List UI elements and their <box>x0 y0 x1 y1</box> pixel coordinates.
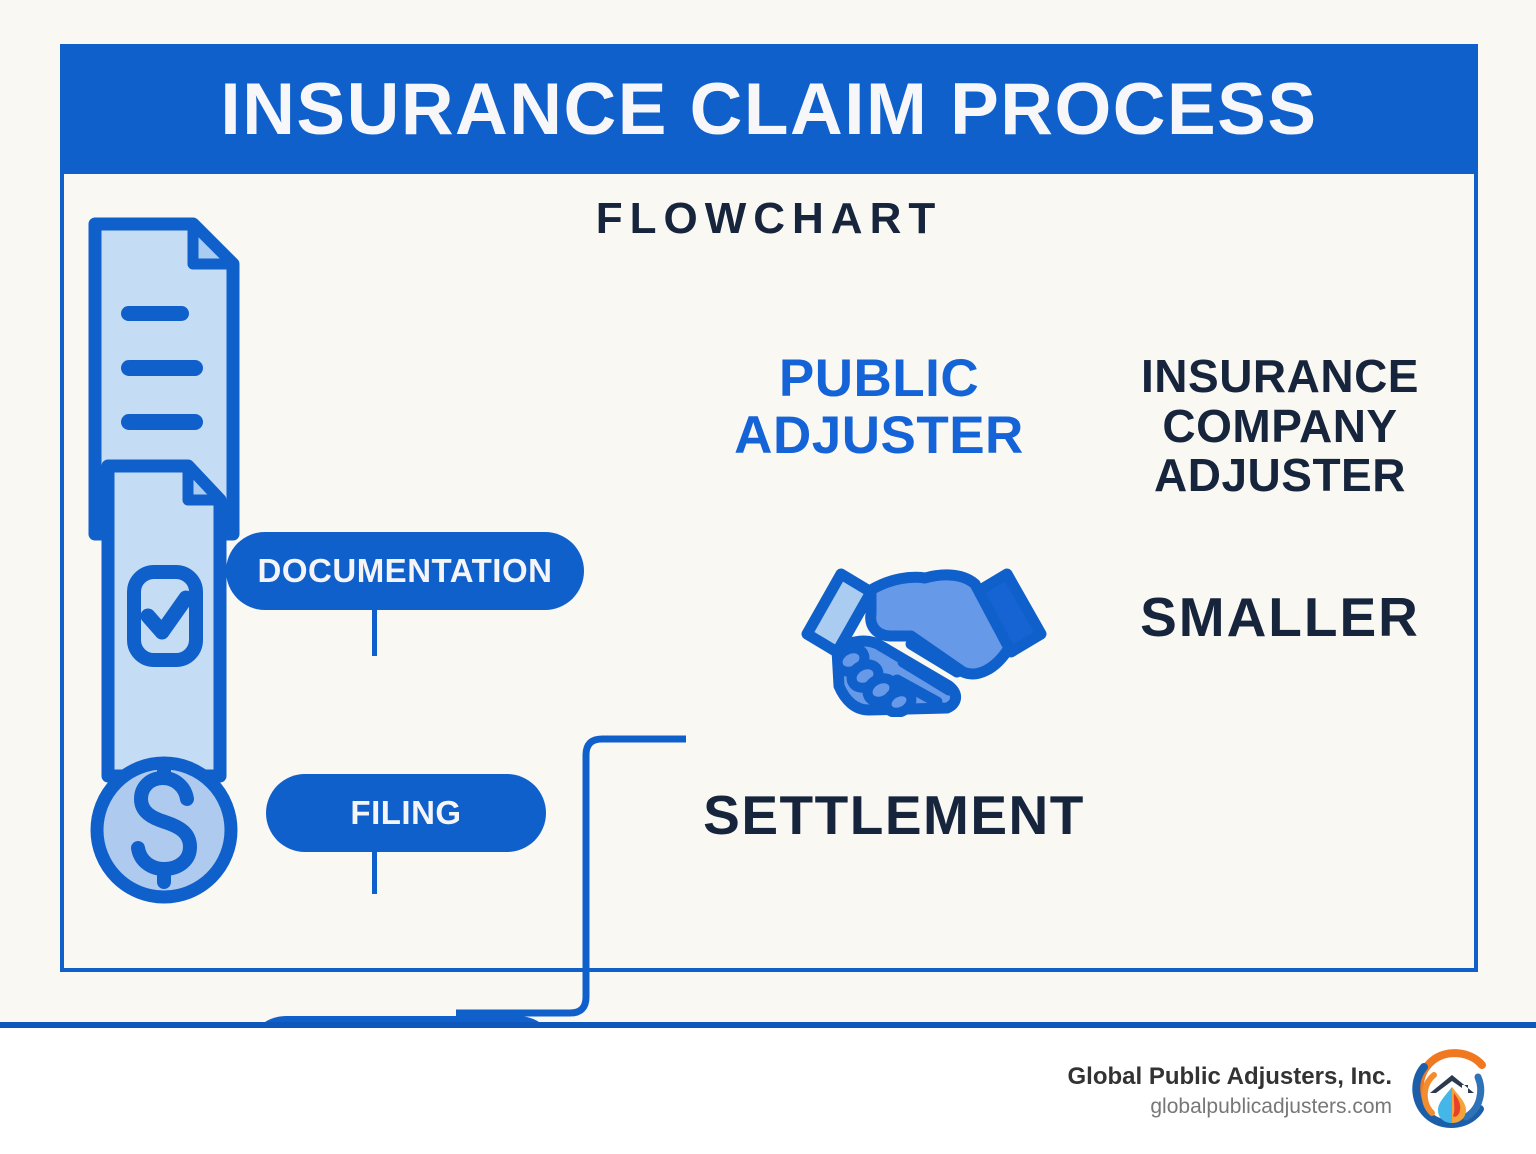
flow-pill-documentation[interactable]: DOCUMENTATION <box>226 532 584 610</box>
flow-label-documentation: DOCUMENTATION <box>258 552 553 590</box>
infographic-root: INSURANCE CLAIM PROCESS FLOWCHART <box>0 0 1536 1154</box>
label-settlement-outcome: SETTLEMENT <box>684 786 1104 845</box>
main-panel: FLOWCHART DOCUMENTATION <box>60 174 1478 972</box>
footer-company-name: Global Public Adjusters, Inc. <box>1067 1061 1392 1093</box>
footer-website[interactable]: globalpublicadjusters.com <box>1067 1093 1392 1121</box>
dollar-coin-icon <box>84 698 244 1033</box>
flow-label-filing: FILING <box>350 794 461 832</box>
connector-documentation-to-filing <box>372 610 377 656</box>
label-smaller-outcome: SMALLER <box>1094 588 1466 647</box>
house-water-fire-swirl-logo <box>1408 1047 1496 1135</box>
label-company-adjuster-line2: COMPANY <box>1094 402 1466 452</box>
title-bar: INSURANCE CLAIM PROCESS <box>60 44 1478 174</box>
label-public-adjuster-line1: PUBLIC <box>684 350 1074 407</box>
connector-filing-to-settlement <box>372 852 377 894</box>
label-insurance-company-adjuster: INSURANCE COMPANY ADJUSTER <box>1094 352 1466 501</box>
footer-text-block: Global Public Adjusters, Inc. globalpubl… <box>1067 1061 1392 1122</box>
handshake-icon <box>799 552 1049 722</box>
connector-settlement-to-agreement <box>456 729 686 1029</box>
footer: Global Public Adjusters, Inc. globalpubl… <box>0 1028 1536 1154</box>
label-public-adjuster-line2: ADJUSTER <box>684 407 1074 464</box>
label-company-adjuster-line1: INSURANCE <box>1094 352 1466 402</box>
page-title: INSURANCE CLAIM PROCESS <box>220 73 1317 146</box>
label-company-adjuster-line3: ADJUSTER <box>1094 451 1466 501</box>
label-public-adjuster: PUBLIC ADJUSTER <box>684 350 1074 464</box>
